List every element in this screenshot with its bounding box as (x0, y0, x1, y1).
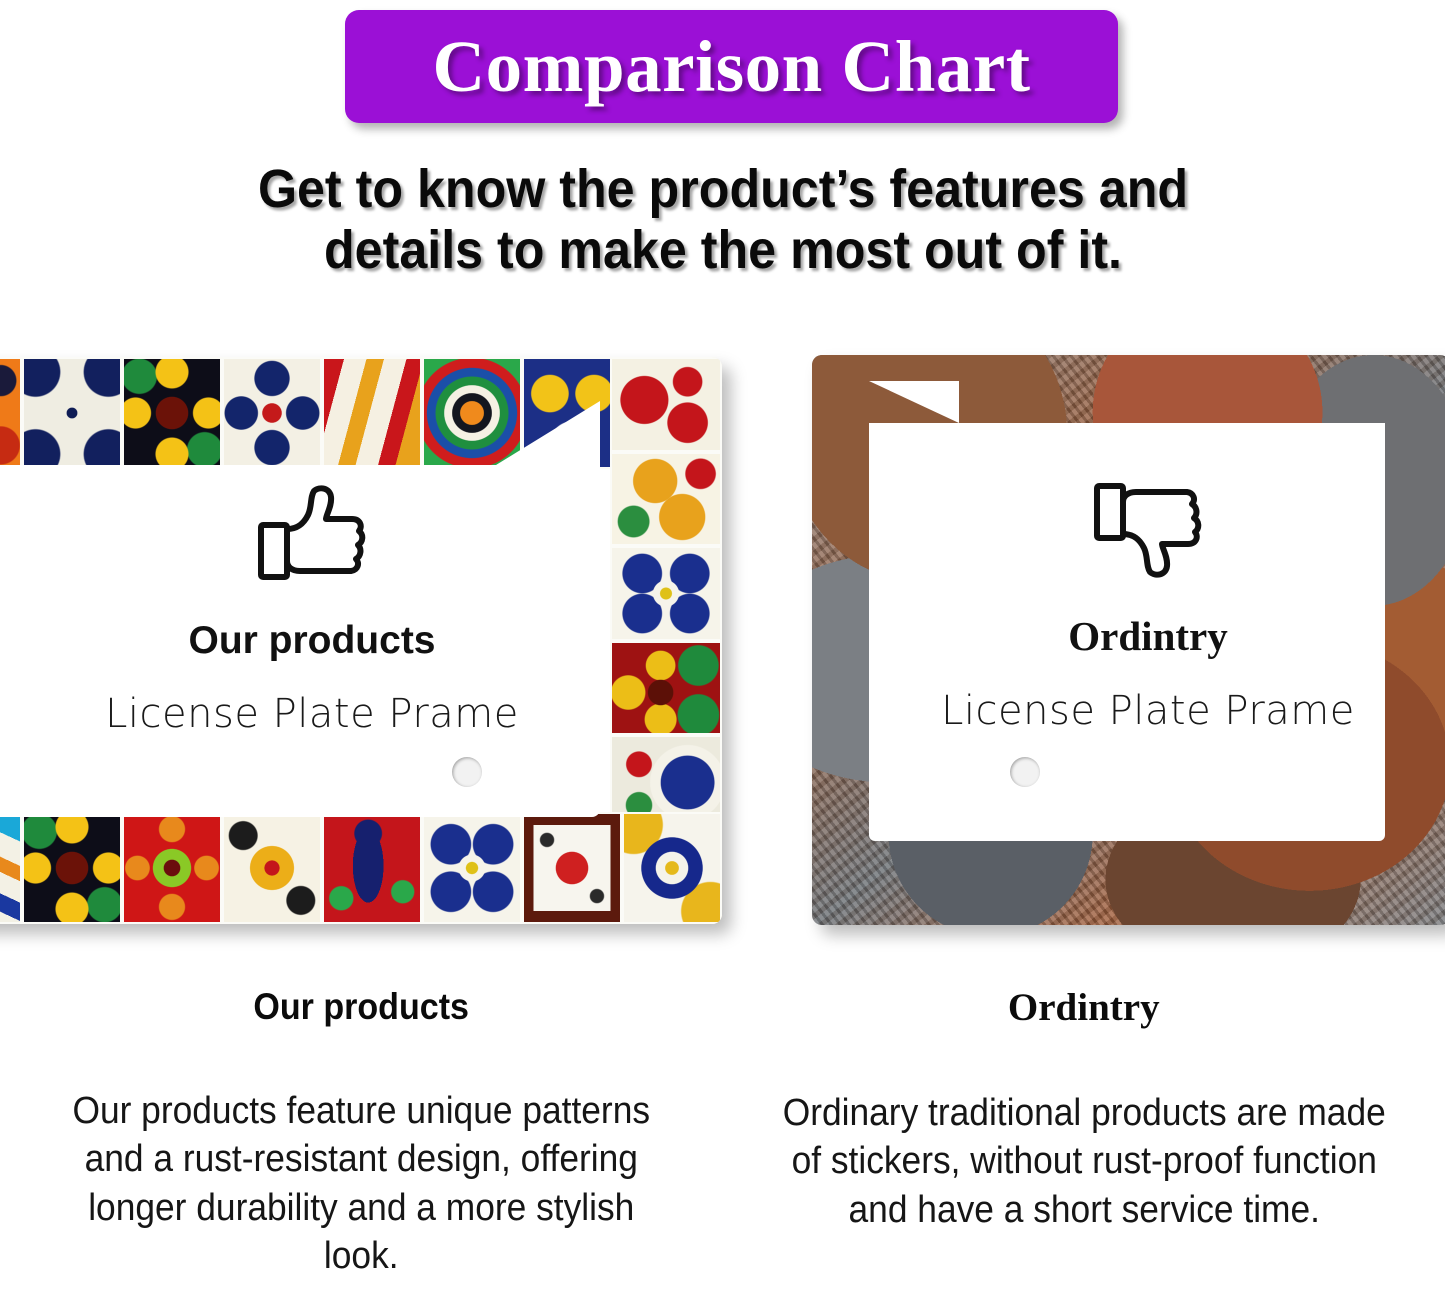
right-product-name: Ordintry (1068, 616, 1227, 657)
tile (222, 357, 322, 469)
left-product-label: License Plate Prame (105, 694, 519, 734)
tile (0, 357, 22, 469)
tile (610, 452, 722, 547)
tile (122, 812, 222, 924)
tile-strip-bottom (0, 812, 722, 924)
thumbs-down-icon (1092, 480, 1204, 578)
plate-window-bevel-right (869, 381, 959, 423)
left-description-body: Our products feature unique patterns and… (49, 1087, 673, 1280)
right-description-body: Ordinary traditional products are made o… (772, 1089, 1396, 1234)
ordinary-product-content: Ordintry License Plate Prame (898, 480, 1398, 731)
page-subtitle: Get to know the product’s features and d… (174, 159, 1271, 281)
right-product-label: License Plate Prame (941, 691, 1355, 731)
mounting-hole-left (452, 757, 482, 787)
comparison-panels: Our products License Plate Prame Ordintr… (0, 345, 1445, 945)
tile (322, 812, 422, 924)
tile (22, 357, 122, 469)
tile (322, 357, 422, 469)
left-product-name: Our products (188, 621, 435, 660)
thumbs-up-icon (256, 485, 368, 583)
tile (122, 357, 222, 469)
description-column-ordinary: Ordintry Ordinary traditional products a… (723, 988, 1445, 1314)
page-title: Comparison Chart (432, 30, 1030, 103)
description-row: Our products Our products feature unique… (0, 988, 1445, 1314)
mounting-hole-right (1010, 757, 1040, 787)
tile (222, 812, 322, 924)
description-column-our-products: Our products Our products feature unique… (0, 988, 723, 1314)
tile (22, 812, 122, 924)
plate-window-bevel-left (496, 401, 600, 465)
tile (622, 812, 722, 924)
tile (522, 812, 622, 924)
tile (610, 546, 722, 641)
title-banner: Comparison Chart (345, 10, 1118, 123)
tile (0, 812, 22, 924)
our-products-content: Our products License Plate Prame (62, 485, 562, 734)
tile (610, 357, 722, 452)
right-description-heading: Ordintry (1008, 988, 1160, 1027)
left-description-heading: Our products (253, 988, 469, 1025)
page-header: Comparison Chart Get to know the product… (0, 0, 1445, 281)
tile (422, 812, 522, 924)
tile (610, 641, 722, 736)
